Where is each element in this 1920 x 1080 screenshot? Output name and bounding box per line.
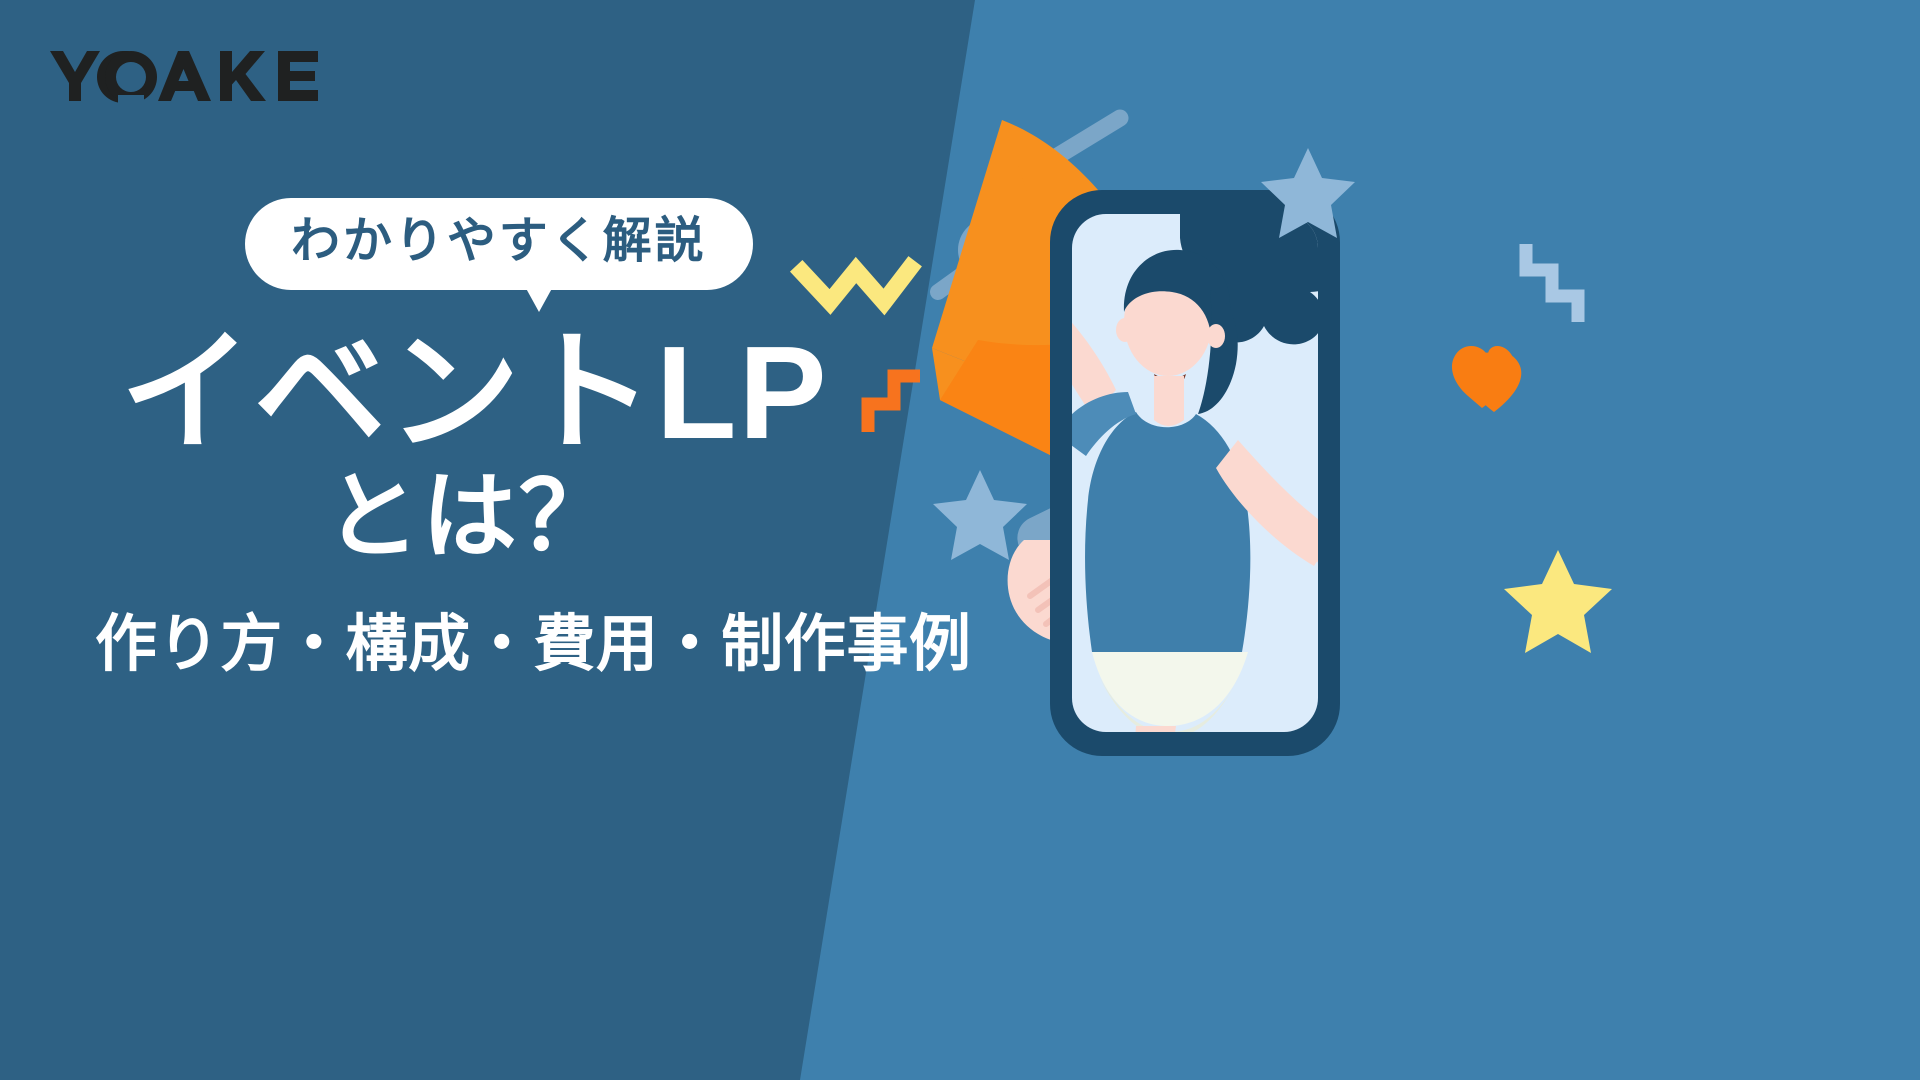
badge-tail-icon (517, 272, 561, 312)
orange-zigzag-icon (868, 376, 920, 432)
yellow-zigzag-icon (802, 268, 910, 302)
yellow-star-icon (1504, 550, 1612, 653)
orange-heart-icon (1452, 346, 1521, 412)
page-title-primary: イベントLP (120, 322, 829, 465)
blue-zigzag-icon (1526, 244, 1578, 322)
yoake-logo[interactable] (48, 48, 322, 104)
hero-illustration (780, 0, 1920, 1080)
hero-banner: わかりやすく解説 イベントLP とは？ 作り方・構成・費用・制作事例 (0, 0, 1920, 1080)
badge-label: わかりやすく解説 (291, 212, 707, 272)
blue-star-left-icon (933, 470, 1027, 560)
badge-pill: わかりやすく解説 (245, 198, 753, 290)
page-title-secondary: とは？ (325, 465, 616, 570)
